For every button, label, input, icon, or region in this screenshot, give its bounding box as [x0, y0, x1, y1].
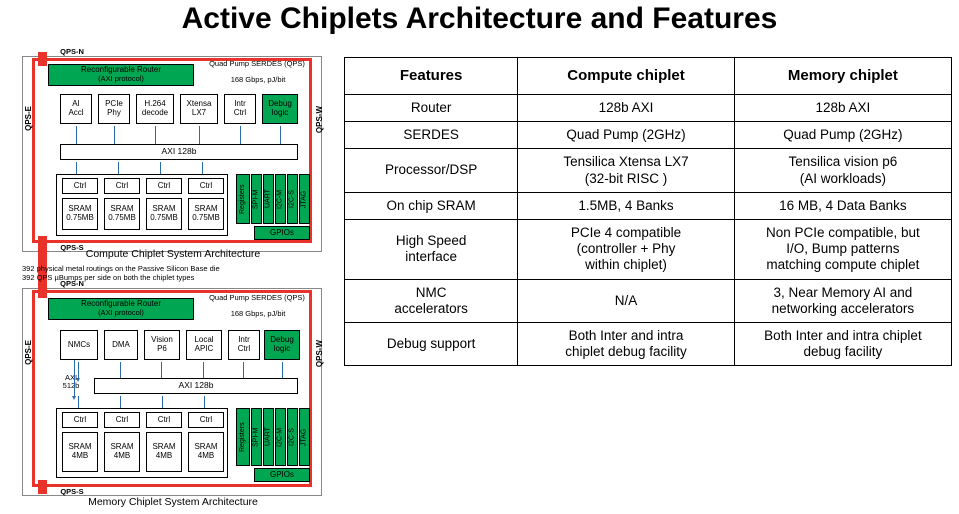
memory-ip-dma: DMA [104, 330, 138, 360]
compute-caption: Compute Chiplet System Architecture [8, 248, 338, 260]
row-1-feature: SERDES [345, 122, 518, 149]
memory-ip-nmcs: NMCs [60, 330, 98, 360]
memory-sram-label-1: SRAM 4MB [110, 443, 133, 461]
compute-ip-pcie-phy: PCIe Phy [98, 94, 130, 124]
memory-ip-label-2: Vision P6 [151, 336, 173, 354]
compute-ctrl-0: Ctrl [62, 178, 98, 194]
row-0-memory: 128b AXI [734, 95, 951, 122]
memory-ctrl-2: Ctrl [146, 412, 182, 428]
qps-east-rail-memory [32, 290, 35, 487]
qps-bump-n-memory [38, 284, 47, 298]
compute-ip-xtensa-lx7: Xtensa LX7 [180, 94, 218, 124]
row-3-feature: On chip SRAM [345, 192, 518, 219]
compute-ip-intr-ctrl: Intr Ctrl [224, 94, 256, 124]
compute-periph-i2c-m: I2C-M [275, 174, 286, 224]
row-3-memory: 16 MB, 4 Data Banks [734, 192, 951, 219]
compute-reconfigurable-router: Reconfigurable Router (AXI protocol) [48, 64, 194, 86]
features-table: Features Compute chiplet Memory chiplet … [344, 57, 952, 366]
table-row: NMC accelerators N/A 3, Near Memory AI a… [345, 279, 952, 322]
row-5-feature: NMC accelerators [345, 279, 518, 322]
compute-periph-jtag: JTAG [299, 174, 310, 224]
memory-sram-1: SRAM 4MB [104, 432, 140, 472]
compute-arrow-3 [199, 126, 200, 144]
compute-ctrl-2: Ctrl [146, 178, 182, 194]
row-4-memory: Non PCIe compatible, but I/O, Bump patte… [734, 219, 951, 279]
row-6-memory: Both Inter and intra chiplet debug facil… [734, 322, 951, 365]
memory-periph-uart: UART [263, 408, 274, 466]
row-6-compute: Both Inter and intra chiplet debug facil… [518, 322, 735, 365]
memory-gpios: GPIOs [254, 468, 310, 482]
compute-periph-i2c-s: I2C-S [287, 174, 298, 224]
memory-arrow-1 [120, 362, 121, 378]
row-2-feature: Processor/DSP [345, 149, 518, 192]
memory-sram-label-0: SRAM 4MB [68, 443, 91, 461]
compute-periph-spi-m: SPI-M [251, 174, 262, 224]
compute-periph-registers: Registers [236, 174, 250, 224]
table-row: SERDES Quad Pump (2GHz) Quad Pump (2GHz) [345, 122, 952, 149]
memory-sram-0: SRAM 4MB [62, 432, 98, 472]
compute-ip-label-1: PCIe Phy [105, 100, 123, 118]
table-row: On chip SRAM 1.5MB, 4 Banks 16 MB, 4 Dat… [345, 192, 952, 219]
memory-periph-i2c-s: I2C-S [287, 408, 298, 466]
memory-sram-label-3: SRAM 4MB [194, 443, 217, 461]
row-4-feature: High Speed interface [345, 219, 518, 279]
memory-ctrl-3: Ctrl [188, 412, 224, 428]
compute-ctrl-3: Ctrl [188, 178, 224, 194]
memory-debug-label: Debug logic [270, 336, 294, 354]
compute-gpios: GPIOs [254, 226, 310, 240]
memory-ctrl-0: Ctrl [62, 412, 98, 428]
compute-ip-label-0: AI Accl [68, 100, 83, 118]
memory-serdes-rate: 168 Gbps, pJ/bit [206, 310, 310, 318]
compute-ip-label-2: H.264 decode [142, 100, 168, 118]
table-header-memory: Memory chiplet [734, 58, 951, 95]
compute-arrow-0 [76, 126, 77, 144]
memory-qps-w-label: QPS-W [315, 340, 324, 367]
table-header-compute: Compute chiplet [518, 58, 735, 95]
memory-ip-label-0: NMCs [68, 341, 90, 350]
row-5-memory: 3, Near Memory AI and networking acceler… [734, 279, 951, 322]
compute-sram-1: SRAM 0.75MB [104, 198, 140, 230]
compute-sram-3: SRAM 0.75MB [188, 198, 224, 230]
row-3-compute: 1.5MB, 4 Banks [518, 192, 735, 219]
memory-periph-jtag: JTAG [299, 408, 310, 466]
compute-sram-2: SRAM 0.75MB [146, 198, 182, 230]
compute-ip-label-3: Xtensa LX7 [187, 100, 212, 118]
compute-sram-0: SRAM 0.75MB [62, 198, 98, 230]
compute-arrow-2 [155, 126, 156, 144]
row-6-feature: Debug support [345, 322, 518, 365]
memory-axi-bus: AXI 128b [94, 378, 298, 394]
memory-arrow-nmc-down [74, 360, 75, 396]
memory-qps-e-label: QPS-E [24, 340, 33, 365]
compute-sram-label-3: SRAM 0.75MB [192, 205, 220, 223]
table-header-row: Features Compute chiplet Memory chiplet [345, 58, 952, 95]
memory-reconfigurable-router: Reconfigurable Router (AXI protocol) [48, 298, 194, 320]
memory-ip-vision-p6: Vision P6 [144, 330, 180, 360]
compute-axi-bus: AXI 128b [60, 144, 298, 160]
page-title: Active Chiplets Architecture and Feature… [0, 2, 959, 36]
compute-periph-uart: UART [263, 174, 274, 224]
memory-periph-spi-m: SPI-M [251, 408, 262, 466]
memory-caption: Memory Chiplet System Architecture [8, 496, 338, 508]
compute-sram-label-2: SRAM 0.75MB [150, 205, 178, 223]
memory-axi-512b-label: AXI 512b [52, 374, 90, 390]
memory-router-line2: (AXI protocol) [98, 309, 144, 317]
row-2-memory: Tensilica vision p6 (AI workloads) [734, 149, 951, 192]
table-header-features: Features [345, 58, 518, 95]
memory-arrow-3 [203, 362, 204, 378]
compute-ip-label-4: Intr Ctrl [234, 100, 246, 118]
chiplet-diagrams: QPS-N QPS-S QPS-E QPS-W Reconfigurable R… [8, 48, 338, 508]
table-row: High Speed interface PCIe 4 compatible (… [345, 219, 952, 279]
compute-arrow-5 [280, 126, 281, 144]
row-0-compute: 128b AXI [518, 95, 735, 122]
compute-qps-w-label: QPS-W [315, 106, 324, 133]
memory-arrow-4 [243, 362, 244, 378]
memory-ip-label-4: Intr Ctrl [238, 336, 250, 354]
compute-serdes-label: Quad Pump SERDES (QPS) [198, 60, 316, 68]
table-row: Router 128b AXI 128b AXI [345, 95, 952, 122]
compute-sram-label-0: SRAM 0.75MB [66, 205, 94, 223]
memory-ip-intr-ctrl: Intr Ctrl [228, 330, 260, 360]
qps-bump-n-compute [38, 52, 47, 66]
compute-qps-n-label: QPS-N [52, 48, 92, 56]
memory-ip-local-apic: Local APIC [186, 330, 222, 360]
qps-bump-s-memory [38, 480, 47, 494]
qps-east-rail-compute [32, 58, 35, 243]
memory-periph-i2c-m: I2C-M [275, 408, 286, 466]
slide: Active Chiplets Architecture and Feature… [0, 0, 959, 514]
memory-ctrl-1: Ctrl [104, 412, 140, 428]
compute-arrow-4 [240, 126, 241, 144]
memory-sram-3: SRAM 4MB [188, 432, 224, 472]
compute-sram-label-1: SRAM 0.75MB [108, 205, 136, 223]
row-4-compute: PCIe 4 compatible (controller + Phy with… [518, 219, 735, 279]
memory-arrow-2 [161, 362, 162, 378]
compute-serdes-rate: 168 Gbps, pJ/bit [206, 76, 310, 84]
memory-qps-n-label: QPS-N [52, 280, 92, 288]
memory-sram-2: SRAM 4MB [146, 432, 182, 472]
compute-ip-ai-accl: AI Accl [60, 94, 92, 124]
memory-ip-label-3: Local APIC [194, 336, 213, 354]
compute-ip-h264-decode: H.264 decode [136, 94, 174, 124]
table-row: Processor/DSP Tensilica Xtensa LX7 (32-b… [345, 149, 952, 192]
compute-qps-e-label: QPS-E [24, 106, 33, 131]
table-row: Debug support Both Inter and intra chipl… [345, 322, 952, 365]
memory-periph-registers: Registers [236, 408, 250, 466]
memory-arrow-5 [282, 362, 283, 378]
row-2-compute: Tensilica Xtensa LX7 (32-bit RISC ) [518, 149, 735, 192]
row-1-compute: Quad Pump (2GHz) [518, 122, 735, 149]
compute-ctrl-1: Ctrl [104, 178, 140, 194]
compute-debug-logic: Debug logic [262, 94, 298, 124]
compute-debug-label: Debug logic [268, 100, 292, 118]
features-table-wrap: Features Compute chiplet Memory chiplet … [344, 57, 952, 366]
memory-sram-label-2: SRAM 4MB [152, 443, 175, 461]
memory-serdes-label: Quad Pump SERDES (QPS) [198, 294, 316, 302]
row-0-feature: Router [345, 95, 518, 122]
row-1-memory: Quad Pump (2GHz) [734, 122, 951, 149]
compute-router-line2: (AXI protocol) [98, 75, 144, 83]
memory-debug-logic: Debug logic [264, 330, 300, 360]
memory-qps-s-label: QPS-S [52, 488, 92, 496]
row-5-compute: N/A [518, 279, 735, 322]
memory-ip-label-1: DMA [112, 341, 130, 350]
compute-arrow-1 [114, 126, 115, 144]
